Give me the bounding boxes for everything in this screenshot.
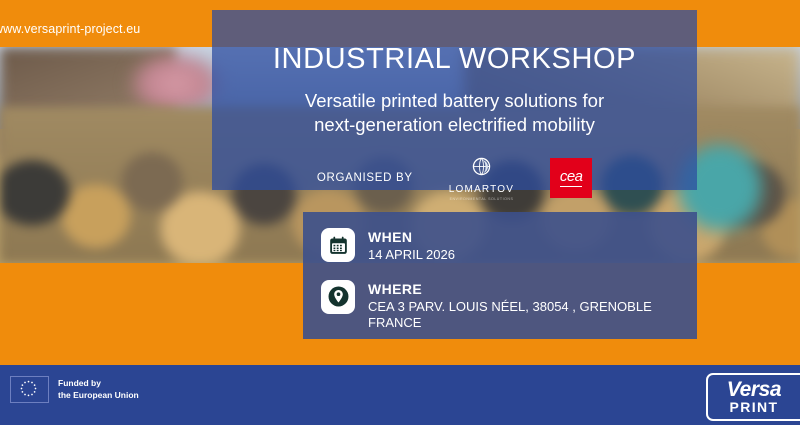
project-website-url[interactable]: www.versaprint-project.eu <box>0 22 140 36</box>
when-value: 14 APRIL 2026 <box>368 247 455 264</box>
globe-icon <box>471 156 492 182</box>
photo-speaker-area <box>128 51 224 116</box>
calendar-icon <box>321 228 355 262</box>
event-where-text: WHERE CEA 3 PARV. LOUIS NÉEL, 38054 , GR… <box>368 280 683 332</box>
eu-funding-text: Funded by the European Union <box>58 378 139 401</box>
footer-bar: Funded by the European Union Versa PRINT <box>0 365 800 425</box>
eu-funding-block: Funded by the European Union <box>10 376 139 403</box>
event-details-panel: WHEN 14 APRIL 2026 WHERE CEA 3 PARV. LOU… <box>303 212 697 339</box>
event-when-row: WHEN 14 APRIL 2026 <box>321 228 683 264</box>
versaprint-logo-print: PRINT <box>730 400 779 414</box>
organised-by-label: ORGANISED BY <box>317 172 413 184</box>
organisers-row: ORGANISED BY LOMARTOV ENVIRONMENTAL SOLU… <box>212 138 697 201</box>
organiser-tagline-lomartov: ENVIRONMENTAL SOLUTIONS <box>450 197 514 201</box>
eu-flag-icon <box>10 376 49 403</box>
organiser-logo-cea[interactable]: cea <box>550 158 592 198</box>
event-where-row: WHERE CEA 3 PARV. LOUIS NÉEL, 38054 , GR… <box>321 280 683 332</box>
cea-underline <box>560 186 582 187</box>
subtitle-line-2: next-generation electrified mobility <box>212 113 697 137</box>
where-label: WHERE <box>368 281 683 297</box>
organiser-name-lomartov: LOMARTOV <box>449 184 514 195</box>
when-label: WHEN <box>368 229 455 245</box>
page-title: INDUSTRIAL WORKSHOP <box>212 10 697 76</box>
event-banner: www.versaprint-project.eu INDUSTRIAL WOR… <box>0 0 800 425</box>
workshop-subtitle: Versatile printed battery solutions for … <box>212 76 697 138</box>
organiser-logo-lomartov[interactable]: LOMARTOV ENVIRONMENTAL SOLUTIONS <box>449 156 514 201</box>
where-value: CEA 3 PARV. LOUIS NÉEL, 38054 , GRENOBLE… <box>368 299 683 332</box>
eu-funding-line-2: the European Union <box>58 390 139 401</box>
organiser-name-cea: cea <box>560 169 583 184</box>
eu-funding-line-1: Funded by <box>58 378 139 389</box>
location-pin-icon <box>321 280 355 314</box>
versaprint-project-logo[interactable]: Versa PRINT <box>706 373 800 421</box>
event-when-text: WHEN 14 APRIL 2026 <box>368 228 455 264</box>
title-panel: INDUSTRIAL WORKSHOP Versatile printed ba… <box>212 10 697 190</box>
subtitle-line-1: Versatile printed battery solutions for <box>212 89 697 113</box>
versaprint-logo-versa: Versa <box>727 380 781 400</box>
